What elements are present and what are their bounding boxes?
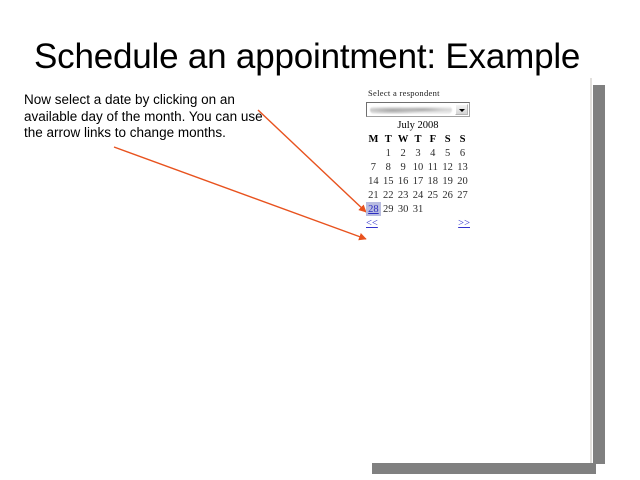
arrow-to-day-links — [258, 110, 366, 212]
calendar-day-cell — [366, 146, 381, 160]
respondent-select-value — [370, 106, 452, 114]
prev-month-link[interactable]: << — [366, 218, 378, 229]
calendar-day-cell[interactable]: 10 — [411, 160, 426, 174]
calendar-day-cell[interactable]: 2 — [396, 146, 411, 160]
weekday-header: M — [366, 133, 381, 146]
calendar-day-cell[interactable]: 23 — [396, 188, 411, 202]
calendar-week-row: 21 22 23 24 25 26 27 — [366, 188, 470, 202]
calendar-day-cell[interactable]: 13 — [455, 160, 470, 174]
calendar-day-cell[interactable]: 24 — [411, 188, 426, 202]
calendar-week-row: 7 8 9 10 11 12 13 — [366, 160, 470, 174]
slide-frame-edge — [590, 78, 592, 463]
weekday-header: S — [440, 133, 455, 146]
calendar-day-cell[interactable]: 30 — [396, 202, 411, 216]
calendar-day-cell — [455, 202, 470, 216]
next-month-link[interactable]: >> — [458, 218, 470, 229]
arrow-to-month-nav — [114, 147, 366, 239]
weekday-header: T — [411, 133, 426, 146]
slide-canvas: Schedule an appointment: Example Now sel… — [0, 0, 640, 480]
calendar-day-cell-selected[interactable]: 28 — [366, 202, 381, 216]
calendar-weekday-row: M T W T F S S — [366, 133, 470, 146]
calendar-day-cell[interactable]: 20 — [455, 174, 470, 188]
calendar-day-cell[interactable]: 21 — [366, 188, 381, 202]
calendar-day-cell — [440, 202, 455, 216]
calendar-week-row: 28 29 30 31 — [366, 202, 470, 216]
slide-shadow-right — [593, 85, 605, 464]
respondent-label: Select a respondent — [368, 88, 478, 99]
appointment-calendar-widget: Select a respondent July 2008 M T W T F … — [366, 88, 478, 229]
calendar-day-cell[interactable]: 26 — [440, 188, 455, 202]
calendar-day-cell[interactable]: 31 — [411, 202, 426, 216]
calendar-day-cell[interactable]: 5 — [440, 146, 455, 160]
calendar-day-cell[interactable]: 14 — [366, 174, 381, 188]
calendar-day-cell — [425, 202, 440, 216]
calendar-day-cell[interactable]: 9 — [396, 160, 411, 174]
calendar-day-cell[interactable]: 6 — [455, 146, 470, 160]
weekday-header: F — [425, 133, 440, 146]
weekday-header: S — [455, 133, 470, 146]
calendar-day-cell[interactable]: 25 — [425, 188, 440, 202]
calendar-day-cell[interactable]: 27 — [455, 188, 470, 202]
calendar-navigation: << >> — [366, 218, 470, 229]
instruction-text: Now select a date by clicking on an avai… — [24, 92, 272, 142]
calendar-day-cell[interactable]: 11 — [425, 160, 440, 174]
slide-shadow-bottom — [372, 463, 596, 474]
page-title: Schedule an appointment: Example — [34, 37, 614, 77]
calendar-day-cell[interactable]: 29 — [381, 202, 396, 216]
calendar-month-title: July 2008 — [366, 119, 470, 133]
calendar-day-cell[interactable]: 15 — [381, 174, 396, 188]
weekday-header: T — [381, 133, 396, 146]
calendar-day-cell[interactable]: 1 — [381, 146, 396, 160]
calendar-week-row: 14 15 16 17 18 19 20 — [366, 174, 470, 188]
calendar-day-cell[interactable]: 18 — [425, 174, 440, 188]
weekday-header: W — [396, 133, 411, 146]
calendar-day-cell[interactable]: 8 — [381, 160, 396, 174]
calendar-day-cell[interactable]: 3 — [411, 146, 426, 160]
chevron-down-icon[interactable] — [455, 104, 468, 115]
calendar-week-row: 1 2 3 4 5 6 — [366, 146, 470, 160]
calendar-day-cell[interactable]: 16 — [396, 174, 411, 188]
calendar-day-cell[interactable]: 17 — [411, 174, 426, 188]
respondent-select[interactable] — [366, 102, 470, 117]
calendar-day-cell[interactable]: 22 — [381, 188, 396, 202]
calendar-grid: M T W T F S S 1 2 3 4 5 6 — [366, 133, 470, 216]
selected-day-label: 28 — [368, 204, 379, 215]
calendar-day-cell[interactable]: 7 — [366, 160, 381, 174]
calendar-day-cell[interactable]: 12 — [440, 160, 455, 174]
calendar-day-cell[interactable]: 4 — [425, 146, 440, 160]
calendar-day-cell[interactable]: 19 — [440, 174, 455, 188]
